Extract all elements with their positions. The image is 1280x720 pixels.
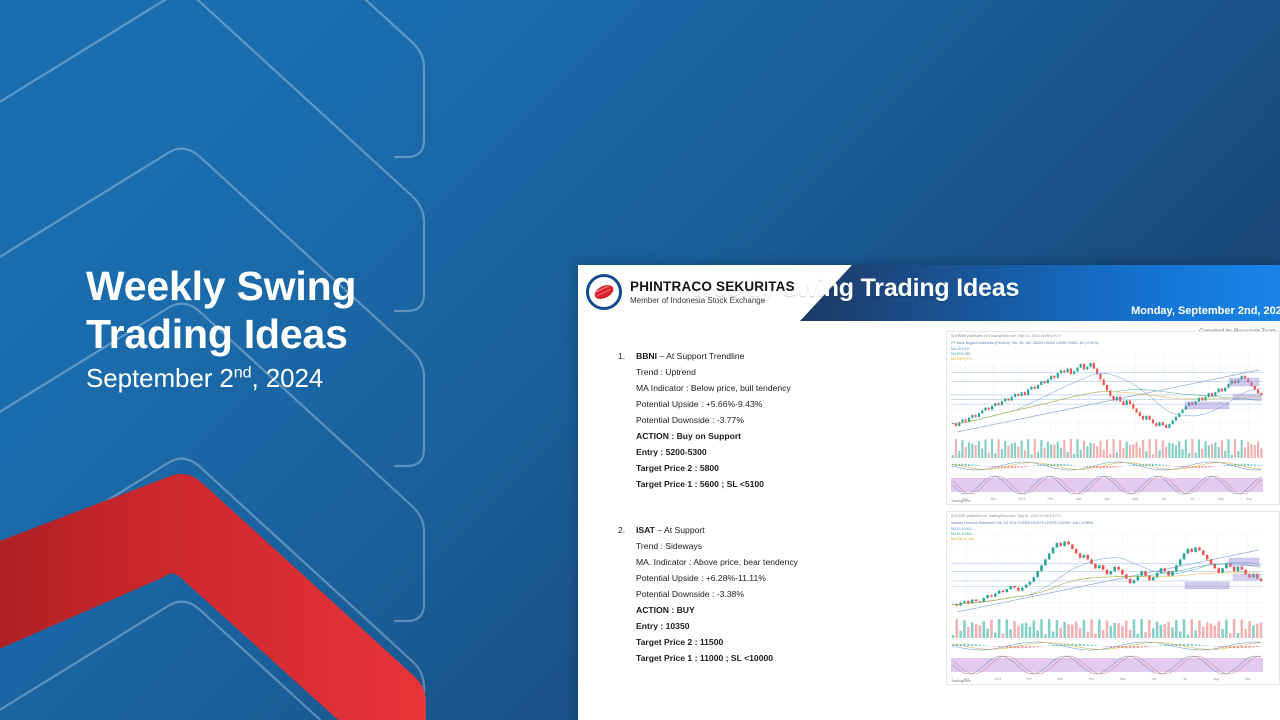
svg-text:Mar: Mar bbox=[1057, 677, 1063, 681]
chart-canvas-1: Nov2024FebMarAprMayJunJulAugSep bbox=[947, 512, 1280, 684]
svg-text:Jul: Jul bbox=[1190, 497, 1194, 501]
idea-potential-upside: Potential Upside : +5.66%-9.43% bbox=[636, 397, 936, 413]
idea-potential-downside: Potential Downside : -3.77% bbox=[636, 413, 936, 429]
charts-column: IDX:BBNI published on TradingView.com, S… bbox=[946, 327, 1280, 720]
svg-text:2024: 2024 bbox=[1018, 497, 1025, 501]
idea-ticker: BBNI bbox=[636, 351, 657, 361]
idea-headline-text: – At Support bbox=[655, 525, 705, 535]
svg-text:Aug: Aug bbox=[1213, 677, 1219, 681]
svg-text:Aug: Aug bbox=[1218, 497, 1224, 501]
idea-target-price-2: Target Price 2 : 5800 bbox=[636, 461, 936, 477]
phintraco-logo-icon bbox=[586, 274, 622, 310]
title-block: Weekly Swing Trading Ideas September 2nd… bbox=[86, 262, 556, 394]
idea-trend: Trend : Uptrend bbox=[636, 365, 936, 381]
idea-headline-text: – At Support Trendline bbox=[657, 351, 744, 361]
brand-name: PHINTRACO SEKURITAS bbox=[630, 279, 795, 295]
svg-text:Sep: Sep bbox=[1245, 677, 1251, 681]
idea-action: ACTION : Buy on Support bbox=[636, 429, 936, 445]
page-date: September 2nd, 2024 bbox=[86, 363, 556, 394]
page-title: Weekly Swing Trading Ideas bbox=[86, 262, 556, 359]
idea-potential-upside: Potential Upside : +6.28%-11.11% bbox=[636, 571, 936, 587]
svg-text:Dec: Dec bbox=[991, 497, 997, 501]
list-item: 2. ISAT – At Support Trend : Sideways MA… bbox=[636, 523, 936, 667]
document-header: Weekly Swing Trading Ideas Monday, Septe… bbox=[578, 265, 1280, 327]
svg-text:May: May bbox=[1132, 497, 1138, 501]
chart-isat[interactable]: IDX:ISAT published on TradingView.com, S… bbox=[946, 511, 1280, 685]
idea-headline: BBNI – At Support Trendline bbox=[636, 349, 936, 365]
svg-text:Jul: Jul bbox=[1183, 677, 1187, 681]
idea-ma-indicator: MA. Indicator : Above price, bear tenden… bbox=[636, 555, 936, 571]
svg-text:Apr: Apr bbox=[1105, 497, 1111, 501]
svg-text:Jun: Jun bbox=[1151, 677, 1156, 681]
idea-trend: Trend : Sideways bbox=[636, 539, 936, 555]
brand-text: PHINTRACO SEKURITAS Member of Indonesia … bbox=[630, 279, 795, 306]
svg-text:2024: 2024 bbox=[994, 677, 1001, 681]
svg-text:Feb: Feb bbox=[1026, 677, 1032, 681]
idea-target-price-1: Target Price 1 : 5600 ; SL <5100 bbox=[636, 477, 936, 493]
banner-date: Monday, September 2nd, 2024 bbox=[1131, 305, 1280, 317]
idea-entry: Entry : 10350 bbox=[636, 619, 936, 635]
date-tail: , 2024 bbox=[251, 363, 323, 393]
idea-headline: ISAT – At Support bbox=[636, 523, 936, 539]
date-main: September 2 bbox=[86, 363, 234, 393]
document-body: 1. BBNI – At Support Trendline Trend : U… bbox=[578, 327, 1280, 720]
svg-text:Feb: Feb bbox=[1048, 497, 1054, 501]
svg-text:Mar: Mar bbox=[1076, 497, 1082, 501]
svg-text:Sep: Sep bbox=[1246, 497, 1252, 501]
logo-ellipse-shape bbox=[592, 282, 615, 302]
idea-action: ACTION : BUY bbox=[636, 603, 936, 619]
brand-subtitle: Member of Indonesia Stock Exchange bbox=[630, 296, 795, 305]
list-item: 1. BBNI – At Support Trendline Trend : U… bbox=[636, 349, 936, 493]
chart-canvas-0: NovDec2024FebMarAprMayJunJulAugSep bbox=[947, 332, 1280, 504]
chart-bbni[interactable]: IDX:BBNI published on TradingView.com, S… bbox=[946, 331, 1280, 505]
document-preview-panel[interactable]: Weekly Swing Trading Ideas Monday, Septe… bbox=[578, 265, 1280, 720]
svg-text:Apr: Apr bbox=[1089, 677, 1095, 681]
idea-target-price-2: Target Price 2 : 11500 bbox=[636, 635, 936, 651]
svg-text:Jun: Jun bbox=[1161, 497, 1166, 501]
idea-ticker: ISAT bbox=[636, 525, 655, 535]
idea-number: 1. bbox=[618, 349, 625, 365]
idea-target-price-1: Target Price 1 : 11000 ; SL <10000 bbox=[636, 651, 936, 667]
trading-ideas-list: 1. BBNI – At Support Trendline Trend : U… bbox=[578, 327, 946, 720]
chart-footer-0: TradingView bbox=[951, 499, 971, 503]
idea-ma-indicator: MA Indicator : Below price, bull tendenc… bbox=[636, 381, 936, 397]
slide-canvas: Weekly Swing Trading Ideas September 2nd… bbox=[0, 0, 1280, 720]
idea-entry: Entry : 5200-5300 bbox=[636, 445, 936, 461]
idea-potential-downside: Potential Downside : -3.38% bbox=[636, 587, 936, 603]
svg-text:May: May bbox=[1120, 677, 1126, 681]
brand-lockup: PHINTRACO SEKURITAS Member of Indonesia … bbox=[586, 274, 795, 310]
chart-footer-1: TradingView bbox=[951, 679, 971, 683]
date-ordinal: nd bbox=[234, 363, 252, 381]
idea-number: 2. bbox=[618, 523, 625, 539]
